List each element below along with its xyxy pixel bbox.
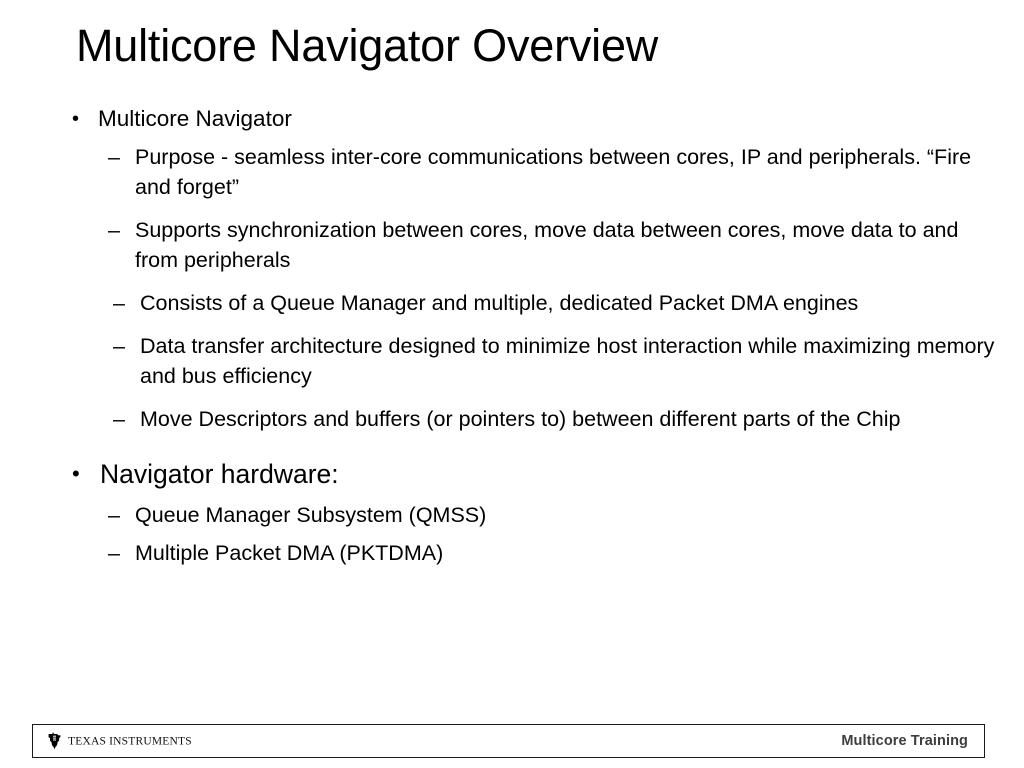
bullet-level2-pktdma: – Multiple Packet DMA (PKTDMA) [0,538,1024,568]
footer-branding: Texas Instruments [47,733,192,750]
bullet-level1-navigator-hardware: • Navigator hardware: [0,456,1024,492]
bullet-level2-data-transfer-architecture: – Data transfer architecture designed to… [0,331,1024,391]
bullet-dash-icon: – [113,288,125,318]
bullet-dash-icon: – [108,538,120,568]
bullet-text: Multiple Packet DMA (PKTDMA) [135,541,443,565]
bullet-text: Queue Manager Subsystem (QMSS) [135,503,486,527]
bullet-dash-icon: – [113,331,125,361]
bullet-dash-icon: – [113,404,125,434]
bullet-level2-supports-synchronization: – Supports synchronization between cores… [0,215,1024,275]
spacer [0,492,1024,500]
bullet-text: Move Descriptors and buffers (or pointer… [140,407,900,431]
bullet-text: Purpose - seamless inter-core communicat… [135,145,971,199]
bullet-dash-icon: – [108,142,120,172]
spacer [0,530,1024,538]
spacer [0,134,1024,142]
texas-instruments-wordmark: Texas Instruments [68,735,192,747]
spacer [0,202,1024,215]
bullet-level2-move-descriptors: – Move Descriptors and buffers (or point… [0,404,1024,434]
bullet-dot-icon: • [72,456,80,492]
texas-instruments-logo-icon [47,733,62,750]
bullet-dash-icon: – [108,500,120,530]
bullet-dot-icon: • [72,104,79,134]
page-title: Multicore Navigator Overview [76,18,956,74]
bullet-text: Supports synchronization between cores, … [135,218,958,272]
bullet-text: Multicore Navigator [98,106,292,131]
spacer [0,391,1024,404]
footer-course-label: Multicore Training [841,733,968,749]
bullet-level2-qmss: – Queue Manager Subsystem (QMSS) [0,500,1024,530]
slide-footer: Texas Instruments Multicore Training [32,724,985,758]
bullet-level2-purpose: – Purpose - seamless inter-core communic… [0,142,1024,202]
bullet-dash-icon: – [108,215,120,245]
bullet-text: Data transfer architecture designed to m… [140,334,994,388]
spacer [0,275,1024,288]
spacer [0,318,1024,331]
bullet-text: Consists of a Queue Manager and multiple… [140,291,858,315]
spacer [0,434,1024,456]
bullet-level1-multicore-navigator: • Multicore Navigator [0,104,1024,134]
bullet-level2-consists-queue-manager: – Consists of a Queue Manager and multip… [0,288,1024,318]
bullet-text: Navigator hardware: [100,459,339,489]
slide-canvas: Multicore Navigator Overview • Multicore… [0,0,1024,768]
slide-body: • Multicore Navigator – Purpose - seamle… [0,104,1024,568]
